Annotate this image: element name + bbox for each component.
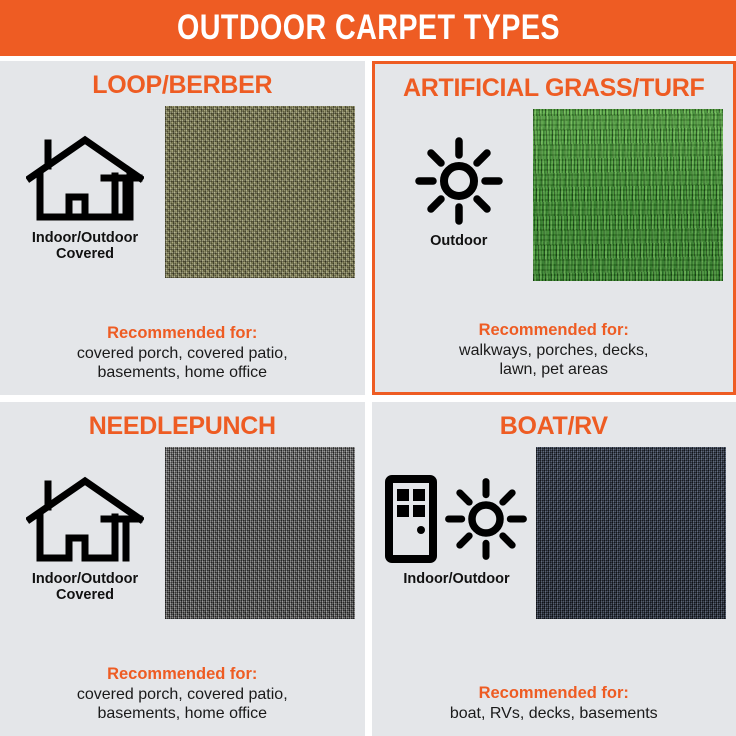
infographic-root: OUTDOOR CARPET TYPES LOOP/BERBER — [0, 0, 736, 736]
recommend-heading: Recommended for: — [388, 684, 721, 703]
sun-icon — [443, 476, 529, 562]
panel-body-boat-rv: Indoor/Outdoor — [378, 445, 731, 682]
recommend-heading: Recommended for: — [16, 665, 349, 684]
panel-title-needlepunch: NEEDLEPUNCH — [6, 412, 359, 441]
recommend-heading: Recommended for: — [16, 324, 349, 343]
panel-title-artificial-grass-turf: ARTIFICIAL GRASS/TURF — [381, 74, 728, 103]
needlepunch-carpet-swatch — [165, 447, 355, 619]
icon-label-line-1: Indoor/Outdoor — [32, 230, 138, 246]
panel-loop-berber[interactable]: LOOP/BERBER — [0, 61, 365, 395]
icon-label-needlepunch: Indoor/Outdoor Covered — [32, 571, 138, 603]
recommend-line: lawn, pet areas — [391, 360, 718, 380]
icon-row-boat-rv — [385, 473, 529, 565]
icon-column-artificial-grass-turf: Outdoor — [385, 109, 534, 249]
house-icon — [26, 135, 144, 221]
icon-label-boat-rv: Indoor/Outdoor — [403, 571, 509, 587]
door-icon — [385, 475, 437, 563]
panel-body-loop-berber: Indoor/Outdoor Covered — [6, 104, 359, 322]
icon-label-line-1: Indoor/Outdoor — [32, 571, 138, 587]
panel-artificial-grass-turf[interactable]: ARTIFICIAL GRASS/TURF — [372, 61, 736, 395]
icon-label-artificial-grass-turf: Outdoor — [430, 233, 487, 249]
boat-rv-carpet-swatch — [536, 447, 726, 619]
icon-label-line-2: Covered — [32, 587, 138, 603]
recommend-line: walkways, porches, decks, — [391, 341, 718, 361]
icon-column-boat-rv: Indoor/Outdoor — [382, 447, 532, 587]
recommend-line: basements, home office — [16, 363, 349, 383]
panel-needlepunch[interactable]: NEEDLEPUNCH — [0, 402, 365, 736]
sun-icon — [413, 135, 505, 227]
icon-label-line-2: Covered — [32, 246, 138, 262]
berber-carpet-swatch — [165, 106, 355, 278]
recommend-line: basements, home office — [16, 704, 349, 724]
icon-label-line-1: Outdoor — [430, 233, 487, 249]
icon-column-needlepunch: Indoor/Outdoor Covered — [10, 447, 160, 603]
panel-body-artificial-grass-turf: Outdoor — [381, 107, 728, 319]
panel-body-needlepunch: Indoor/Outdoor Covered — [6, 445, 359, 663]
panel-title-loop-berber: LOOP/BERBER — [6, 71, 359, 100]
recommendation-loop-berber: Recommended for: covered porch, covered … — [6, 322, 359, 387]
icon-row-needlepunch — [26, 473, 144, 565]
panel-title-boat-rv: BOAT/RV — [378, 412, 731, 441]
recommend-line: boat, RVs, decks, basements — [388, 704, 721, 724]
house-icon — [26, 476, 144, 562]
icon-label-loop-berber: Indoor/Outdoor Covered — [32, 230, 138, 262]
turf-carpet-swatch — [533, 109, 723, 281]
recommendation-needlepunch: Recommended for: covered porch, covered … — [6, 663, 359, 728]
recommendation-artificial-grass-turf: Recommended for: walkways, porches, deck… — [381, 319, 728, 384]
icon-row-artificial-grass-turf — [413, 135, 505, 227]
recommend-heading: Recommended for: — [391, 321, 718, 340]
icon-label-line-1: Indoor/Outdoor — [403, 571, 509, 587]
page-title: OUTDOOR CARPET TYPES — [177, 8, 560, 48]
icon-row-loop-berber — [26, 132, 144, 224]
icon-column-loop-berber: Indoor/Outdoor Covered — [10, 106, 160, 262]
carpet-type-grid: LOOP/BERBER — [0, 56, 736, 736]
panel-boat-rv[interactable]: BOAT/RV — [372, 402, 736, 736]
recommendation-boat-rv: Recommended for: boat, RVs, decks, basem… — [378, 682, 731, 728]
recommend-line: covered porch, covered patio, — [16, 685, 349, 705]
recommend-line: covered porch, covered patio, — [16, 344, 349, 364]
header-banner: OUTDOOR CARPET TYPES — [0, 0, 736, 56]
